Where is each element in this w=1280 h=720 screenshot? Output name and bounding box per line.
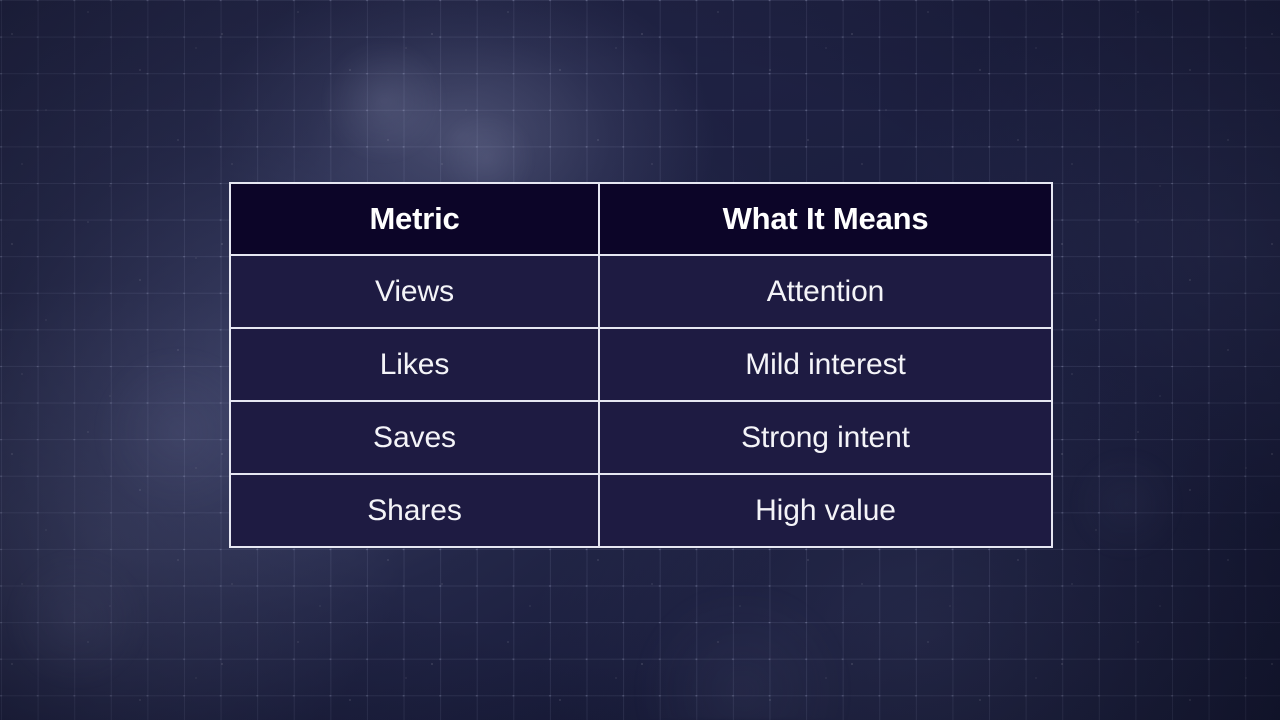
cell-metric: Likes: [230, 328, 599, 401]
table-body: Views Attention Likes Mild interest Save…: [230, 255, 1052, 547]
cell-meaning: High value: [599, 474, 1052, 547]
table-row: Saves Strong intent: [230, 401, 1052, 474]
column-header-metric: Metric: [230, 183, 599, 255]
table-header: Metric What It Means: [230, 183, 1052, 255]
table-header-row: Metric What It Means: [230, 183, 1052, 255]
cell-metric: Saves: [230, 401, 599, 474]
table-row: Shares High value: [230, 474, 1052, 547]
cell-metric: Views: [230, 255, 599, 328]
cell-meaning: Attention: [599, 255, 1052, 328]
metric-meaning-table: Metric What It Means Views Attention Lik…: [229, 182, 1053, 548]
table-row: Views Attention: [230, 255, 1052, 328]
cell-metric: Shares: [230, 474, 599, 547]
cell-meaning: Mild interest: [599, 328, 1052, 401]
table-row: Likes Mild interest: [230, 328, 1052, 401]
metric-table-container: Metric What It Means Views Attention Lik…: [229, 182, 1051, 540]
slide-canvas: Metric What It Means Views Attention Lik…: [0, 0, 1280, 720]
column-header-meaning: What It Means: [599, 183, 1052, 255]
cell-meaning: Strong intent: [599, 401, 1052, 474]
